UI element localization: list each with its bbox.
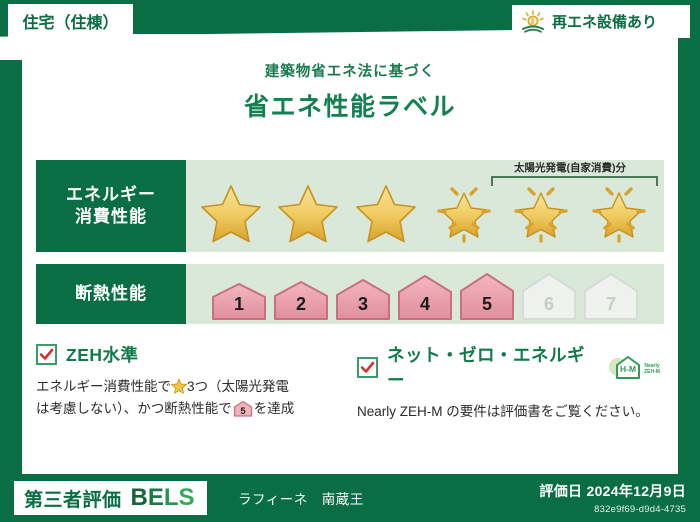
insulation-level-badge: 5 [457,271,517,321]
insulation-level-badge: 2 [271,279,331,321]
page-title: 省エネ性能ラベル [22,87,678,123]
zeh-description: エネルギー消費性能で3つ（太陽光発電は考慮しない）、かつ断熱性能で5を達成 [36,376,343,420]
energy-label-line1: エネルギー [66,184,156,206]
zeh-desc-part3: を達成 [254,401,295,416]
building-name: ラフィーネ 南蔵王 [238,474,364,522]
energy-performance-row: エネルギー 消費性能 太陽光発電(自家消費)分 [36,160,664,252]
nze-criteria-section: ネット・ゼロ・エネルギー H-M Nearly ZEH-M Nearly ZEH… [357,342,664,452]
energy-performance-label: 住宅（住棟） 再エネ設備あり 建築物省エネ法に基づく 省 [0,0,700,522]
third-party-label: 第三者評価 [24,485,122,512]
zeh-m-logo-icon: H-M Nearly ZEH-M [608,352,664,382]
insulation-level-badge-inactive: 6 [519,271,579,321]
insulation-level-number: 5 [457,294,517,315]
energy-label-line2: 消費性能 [75,206,147,228]
check-icon [39,347,54,362]
star-icon [276,181,340,245]
nze-description: Nearly ZEH-M の要件は評価書をご覧ください。 [357,401,664,423]
insulation-level-scale: 1 2 3 [186,264,664,324]
insulation-level-badge: 1 [209,281,269,321]
check-icon [360,360,375,375]
energy-row-body: 太陽光発電(自家消費)分 [186,160,664,252]
zeh-desc-part2: は考慮しない）、かつ断熱性能で [36,401,232,416]
star-icon [199,181,263,245]
building-type-chip: 住宅（住棟） [8,4,133,38]
star-icon-solar [432,181,496,245]
sun-icon [520,10,546,34]
star-icon-solar [587,181,651,245]
evaluation-date: 評価日 2024年12月9日 [539,481,686,501]
insulation-level-badge: 3 [333,277,393,321]
svg-text:5: 5 [240,406,246,417]
zeh-heading: ZEH水準 [36,342,343,367]
insulation-level-number: 4 [395,294,455,315]
inline-house-badge-icon: 5 [233,400,253,417]
inline-star-icon [171,378,187,394]
footer-bar: 第三者評価 BELS ラフィーネ 南蔵王 評価日 2024年12月9日 832e… [0,474,700,522]
insulation-level-number: 3 [333,294,393,315]
svg-text:H-M: H-M [620,364,636,374]
solar-annotation-text: 太陽光発電(自家消費)分 [476,160,664,175]
svg-text:ZEH-M: ZEH-M [644,369,660,375]
bels-logo: BELS [131,486,195,510]
nze-heading: ネット・ゼロ・エネルギー H-M Nearly ZEH-M [357,342,664,392]
zeh-desc-part1: エネルギー消費性能で [36,379,171,394]
star-icon [354,181,418,245]
insulation-level-number: 1 [209,294,269,315]
checkbox-checked [357,357,378,378]
zeh-criteria-section: ZEH水準 エネルギー消費性能で3つ（太陽光発電は考慮しない）、かつ断熱性能で5… [36,342,343,452]
energy-row-label: エネルギー 消費性能 [36,160,186,252]
evaluation-id: 832e9f69-d9d4-4735 [594,504,686,515]
checkbox-checked [36,344,57,365]
insulation-performance-row: 断熱性能 1 [36,264,664,324]
insulation-row-label: 断熱性能 [36,264,186,324]
zeh-desc-stars: 3つ（太陽光発電 [187,379,289,394]
bels-chip: 第三者評価 BELS [14,481,207,515]
insulation-level-badge-inactive: 7 [581,271,641,321]
title-block: 建築物省エネ法に基づく 省エネ性能ラベル [22,60,678,123]
title-subtitle: 建築物省エネ法に基づく [22,60,678,81]
star-icon-solar [509,181,573,245]
evaluation-info: 評価日 2024年12月9日 832e9f69-d9d4-4735 [539,474,686,522]
insulation-label-text: 断熱性能 [75,283,147,305]
insulation-row-body: 1 2 3 [186,264,664,324]
renewable-badge-label: 再エネ設備あり [552,11,657,32]
label-card: 建築物省エネ法に基づく 省エネ性能ラベル エネルギー 消費性能 太陽光発電(自家… [22,34,678,474]
star-rating [186,176,664,250]
criteria-sections: ZEH水準 エネルギー消費性能で3つ（太陽光発電は考慮しない）、かつ断熱性能で5… [36,342,664,452]
zeh-title: ZEH水準 [66,342,139,367]
insulation-level-badge: 4 [395,273,455,321]
insulation-level-number: 2 [271,294,331,315]
nze-title: ネット・ゼロ・エネルギー [387,342,593,392]
insulation-level-number: 6 [519,294,579,315]
renewable-equipment-badge: 再エネ設備あり [512,5,690,38]
building-type-label: 住宅（住棟） [22,9,118,33]
insulation-level-number: 7 [581,294,641,315]
